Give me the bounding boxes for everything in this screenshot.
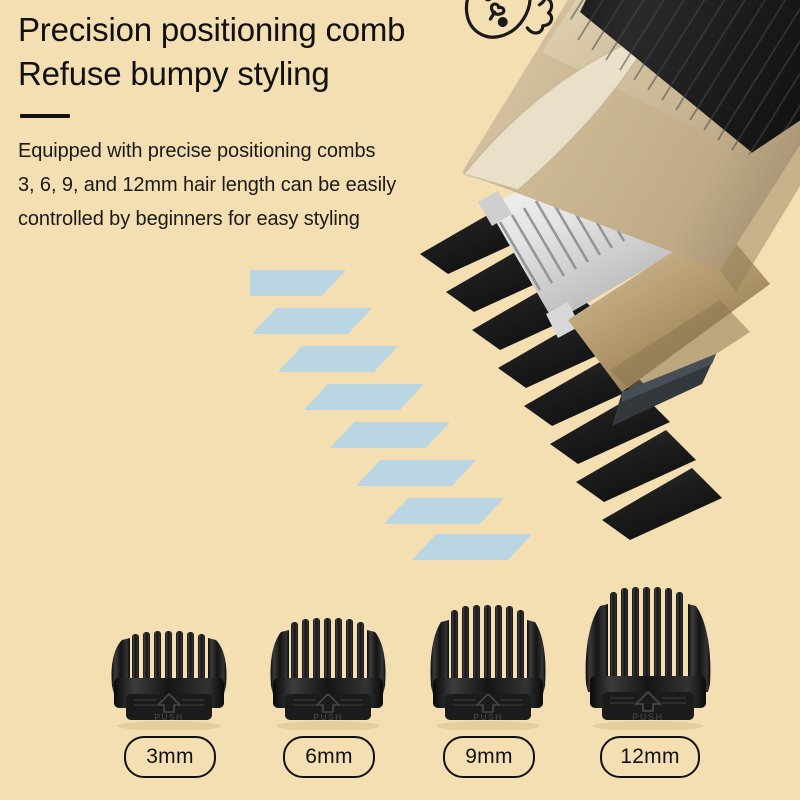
copy-block: Precision positioning comb Refuse bumpy … xyxy=(18,8,538,236)
size-label-row: 3mm 6mm 9mm 12mm xyxy=(0,736,800,782)
guard-comb-6mm[interactable]: PUSH xyxy=(263,580,393,730)
headline-line-2: Refuse bumpy styling xyxy=(18,52,538,96)
size-label-6mm[interactable]: 6mm xyxy=(283,736,375,778)
comb-push-label: PUSH xyxy=(632,712,663,722)
size-label-3mm[interactable]: 3mm xyxy=(124,736,216,778)
guard-comb-12mm[interactable]: PUSH xyxy=(578,562,718,730)
size-label-9mm[interactable]: 9mm xyxy=(443,736,535,778)
headline-divider xyxy=(20,114,70,118)
motion-trails xyxy=(250,270,532,560)
body-line-2: 3, 6, 9, and 12mm hair length can be eas… xyxy=(18,168,538,202)
body-line-1: Equipped with precise positioning combs xyxy=(18,134,538,168)
guard-comb-row: PUSH xyxy=(0,560,800,730)
size-label-12mm[interactable]: 12mm xyxy=(600,736,700,778)
comb-push-label: PUSH xyxy=(473,712,502,722)
product-feature-banner: Precision positioning comb Refuse bumpy … xyxy=(0,0,800,800)
comb-push-label: PUSH xyxy=(154,712,183,722)
headline-line-1: Precision positioning comb xyxy=(18,8,538,52)
body-line-3: controlled by beginners for easy styling xyxy=(18,202,538,236)
guard-comb-3mm[interactable]: PUSH xyxy=(104,590,234,730)
guard-comb-9mm[interactable]: PUSH xyxy=(423,572,553,730)
comb-push-label: PUSH xyxy=(313,712,342,722)
